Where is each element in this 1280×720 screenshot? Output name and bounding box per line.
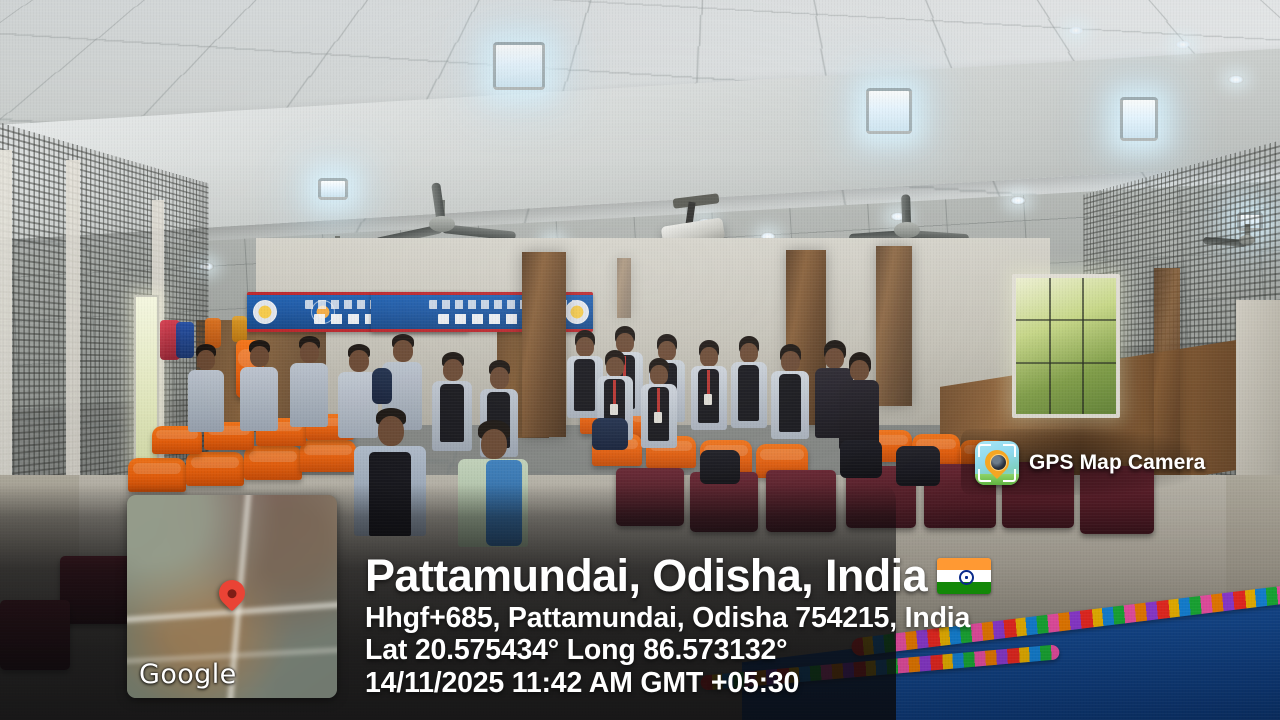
head: [481, 429, 507, 459]
tube-light: [1120, 97, 1158, 141]
hall-pillar: [617, 258, 631, 318]
logo-bracket: [978, 469, 991, 482]
hall-pillar: [522, 252, 566, 437]
head: [576, 337, 594, 357]
ceiling-fan: [905, 228, 909, 232]
head: [250, 346, 269, 367]
fan-hub: [894, 222, 920, 238]
lanyard: [657, 388, 660, 412]
logo-bracket: [1003, 444, 1016, 457]
head: [606, 357, 624, 377]
gps-map-camera-logo-icon: [975, 441, 1019, 485]
maroon-chair: [0, 600, 70, 670]
uniform-vest: [369, 452, 411, 536]
person-standing: [730, 336, 768, 436]
torso: [290, 363, 328, 427]
ceiling-fan: [440, 222, 444, 226]
head: [393, 340, 413, 362]
lanyard: [613, 380, 616, 404]
brand-name-label: GPS Map Camera: [1029, 451, 1205, 475]
tube-light: [866, 88, 912, 134]
person-seated: [352, 408, 428, 538]
location-text-block: Pattamundai, Odisha, India Hhgf+685, Pat…: [365, 553, 1065, 698]
head: [781, 351, 800, 372]
uniform-vest: [779, 374, 801, 432]
right-window: [1012, 274, 1120, 419]
head: [378, 416, 404, 446]
downlight-icon: [1010, 196, 1026, 205]
head: [700, 347, 718, 367]
lanyard: [707, 370, 710, 394]
head: [650, 365, 668, 385]
head: [740, 343, 758, 363]
head: [349, 350, 369, 372]
map-thumbnail[interactable]: Google: [127, 495, 337, 698]
downlight-icon: [1175, 40, 1191, 49]
logo-bracket: [1003, 469, 1016, 482]
orange-chair: [128, 458, 186, 492]
google-watermark: Google: [139, 659, 237, 690]
head: [197, 350, 215, 370]
fan-hub: [429, 216, 455, 232]
id-card: [654, 412, 662, 423]
torso: [188, 370, 224, 432]
head: [443, 359, 463, 381]
id-card: [704, 394, 712, 405]
dupatta: [486, 460, 522, 546]
torso: [240, 367, 278, 431]
head: [490, 367, 509, 389]
downlight-icon: [1068, 26, 1084, 35]
orange-chair: [186, 452, 244, 486]
banner-emblem-icon: [253, 300, 277, 324]
uniform-vest: [574, 359, 595, 411]
location-coordinates: Lat 20.575434° Long 86.573132°: [365, 636, 1065, 665]
downlight-icon: [1228, 75, 1244, 84]
id-card: [610, 404, 618, 415]
head: [850, 360, 869, 381]
backpack: [592, 418, 628, 450]
orange-chair: [244, 446, 302, 480]
gps-map-camera-badge[interactable]: GPS Map Camera: [975, 441, 1205, 485]
person-seated: [456, 420, 530, 548]
window-mullion: [1049, 278, 1051, 415]
person-standing: [288, 336, 330, 436]
window-mullion: [1016, 319, 1116, 321]
person-standing: [640, 358, 678, 456]
logo-bracket: [978, 444, 991, 457]
banner-emblem-icon: [565, 300, 589, 324]
maroon-chair: [766, 470, 836, 532]
hall-pillar: [876, 246, 912, 406]
location-title: Pattamundai, Odisha, India: [365, 553, 927, 599]
window-mullion: [1082, 278, 1084, 415]
location-title-row: Pattamundai, Odisha, India: [365, 553, 1065, 599]
location-timestamp: 14/11/2025 11:42 AM GMT +05:30: [365, 669, 1065, 698]
window-mullion: [1016, 362, 1116, 364]
backpack: [840, 440, 882, 478]
tube-light: [493, 42, 545, 90]
person-standing: [770, 344, 810, 448]
location-address: Hhgf+685, Pattamundai, Odisha 754215, In…: [365, 604, 1065, 633]
india-flag-icon: [937, 558, 991, 594]
backpack: [700, 450, 740, 484]
backpack: [896, 446, 940, 486]
screenshot-root: Google Pattamundai, Odisha, India Hhgf+6…: [0, 0, 1280, 720]
person-standing: [690, 340, 728, 438]
uniform-vest: [738, 365, 759, 421]
wall-decoration: [232, 316, 247, 342]
backpack: [372, 368, 392, 404]
person-standing: [186, 344, 226, 440]
head: [300, 342, 319, 363]
maroon-chair: [616, 468, 684, 526]
tube-light: [318, 178, 348, 200]
person-standing: [238, 340, 280, 440]
